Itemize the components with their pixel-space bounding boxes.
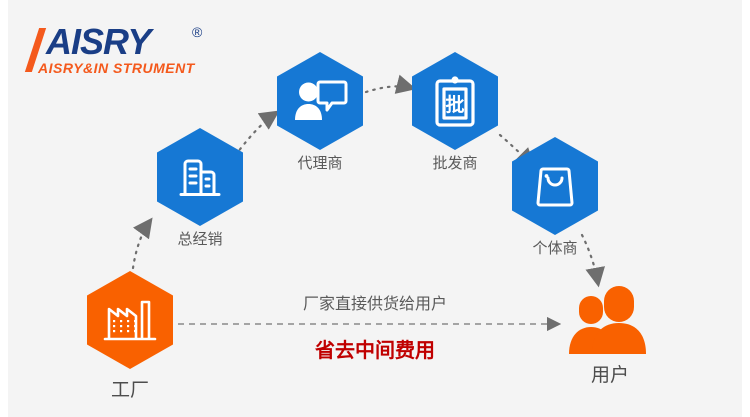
factory-icon — [102, 295, 158, 345]
node-label: 用户 — [591, 360, 629, 387]
node-retailer[interactable]: 个体商 — [512, 137, 598, 235]
svg-text:批: 批 — [445, 94, 464, 116]
node-label: 代理商 — [297, 152, 342, 173]
node-label: 总经销 — [177, 228, 222, 249]
hexagon-shape — [512, 137, 598, 235]
node-wholesaler[interactable]: 批 批发商 — [412, 52, 498, 150]
hexagon-shape — [157, 128, 243, 226]
office-building-icon — [174, 151, 226, 203]
node-label: 个体商 — [532, 237, 577, 258]
diagram-canvas: AISRY ® AISRY&IN STRUMENT — [0, 0, 750, 417]
hexagon-shape: 批 — [412, 52, 498, 150]
node-distributor[interactable]: 总经销 — [157, 128, 243, 226]
user-icon-wrap — [561, 282, 659, 358]
shopping-bag-icon — [531, 161, 579, 211]
person-chat-icon — [292, 76, 348, 126]
edge-retailer-to-user — [582, 235, 598, 283]
node-label: 批发商 — [432, 152, 477, 173]
node-factory[interactable]: 工厂 — [87, 271, 173, 369]
node-user[interactable]: 用户 — [561, 282, 659, 358]
clipboard-pi-icon: 批 — [431, 74, 479, 128]
direct-supply-label: 厂家直接供货给用户 — [303, 290, 447, 314]
hexagon-shape — [277, 52, 363, 150]
save-cost-label: 省去中间费用 — [315, 334, 435, 363]
hexagon-shape — [87, 271, 173, 369]
node-agent[interactable]: 代理商 — [277, 52, 363, 150]
edge-agent-to-wholesaler — [366, 86, 412, 92]
node-label: 工厂 — [111, 375, 149, 402]
users-icon — [561, 282, 659, 358]
edge-factory-to-distributor — [133, 221, 150, 268]
